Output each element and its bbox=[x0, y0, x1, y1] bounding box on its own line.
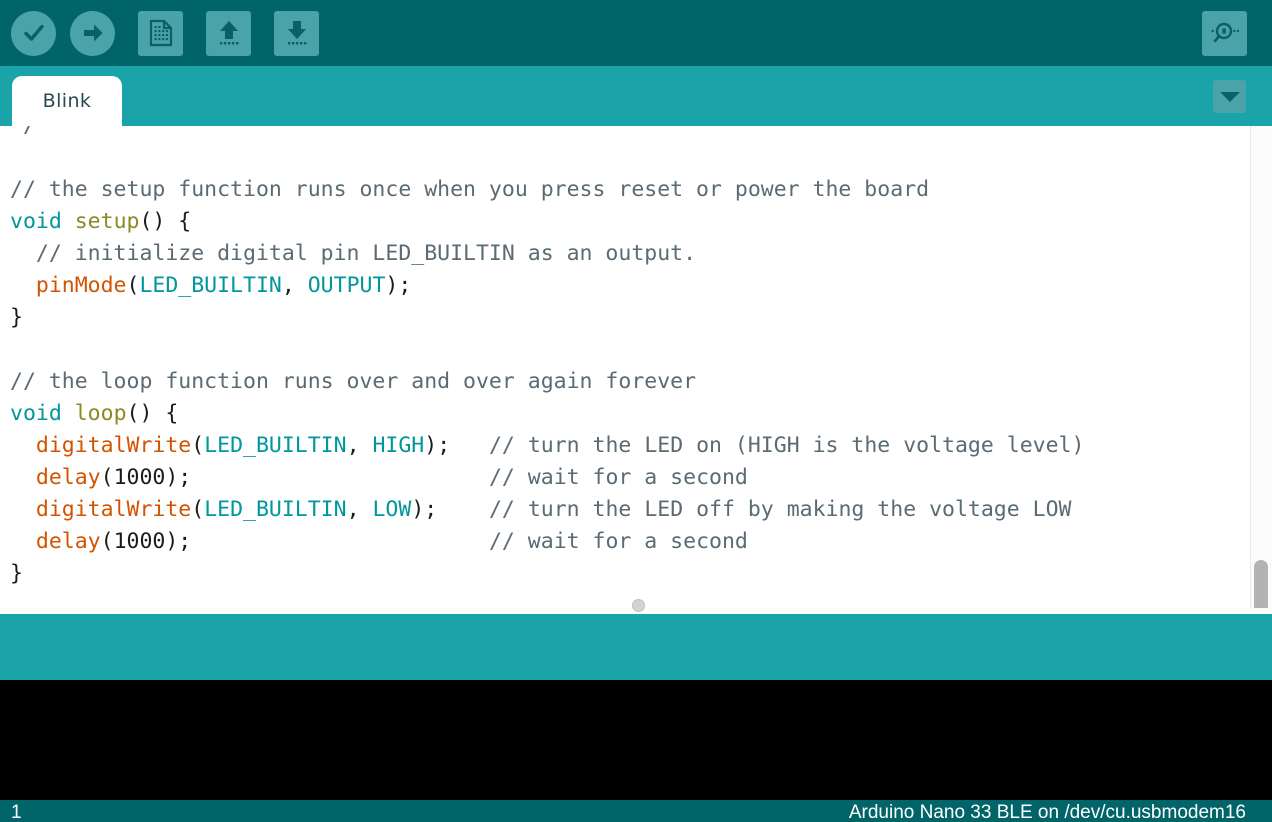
code-line: digitalWrite(LED_BUILTIN, LOW); // turn … bbox=[10, 494, 1084, 526]
code-line: delay(1000); // wait for a second bbox=[10, 462, 1084, 494]
code-token: 1000 bbox=[114, 465, 166, 490]
open-button[interactable] bbox=[206, 11, 251, 56]
code-token bbox=[10, 497, 36, 522]
code-token: loop bbox=[75, 401, 127, 426]
code-token: , bbox=[282, 273, 308, 298]
code-token: LOW bbox=[372, 497, 411, 522]
code-token: , bbox=[347, 497, 373, 522]
arrow-up-icon bbox=[216, 19, 242, 47]
new-sketch-button[interactable] bbox=[138, 11, 183, 56]
code-token: ); bbox=[424, 433, 489, 458]
arduino-ide-window: Blink */ // the setup function runs once… bbox=[0, 0, 1272, 822]
arrow-down-icon bbox=[284, 19, 310, 47]
code-token: } bbox=[10, 561, 23, 586]
code-token bbox=[10, 529, 36, 554]
code-token: ( bbox=[127, 273, 140, 298]
status-bar: 1 Arduino Nano 33 BLE on /dev/cu.usbmode… bbox=[0, 800, 1272, 822]
save-button[interactable] bbox=[274, 11, 319, 56]
code-token: delay bbox=[36, 465, 101, 490]
document-icon bbox=[148, 19, 174, 47]
code-line: } bbox=[10, 302, 1084, 334]
code-token: OUTPUT bbox=[308, 273, 386, 298]
code-token: ); bbox=[385, 273, 411, 298]
tab-blink[interactable]: Blink bbox=[12, 76, 122, 126]
splitter-drag-handle[interactable] bbox=[632, 599, 645, 612]
toolbar-left-group bbox=[0, 11, 319, 56]
code-token bbox=[10, 241, 36, 266]
code-token: void bbox=[10, 209, 62, 234]
console-header bbox=[0, 614, 1272, 680]
code-token: ( bbox=[101, 465, 114, 490]
tab-bar: Blink bbox=[0, 66, 1272, 126]
code-line: void loop() { bbox=[10, 398, 1084, 430]
code-token: 1000 bbox=[114, 529, 166, 554]
code-token bbox=[62, 209, 75, 234]
code-line: pinMode(LED_BUILTIN, OUTPUT); bbox=[10, 270, 1084, 302]
tab-label: Blink bbox=[43, 90, 92, 112]
magnifier-icon bbox=[1210, 20, 1240, 46]
code-token: , bbox=[347, 433, 373, 458]
code-line: void setup() { bbox=[10, 206, 1084, 238]
code-token: */ bbox=[10, 126, 36, 138]
code-line: } bbox=[10, 558, 1084, 590]
code-token: // the setup function runs once when you… bbox=[10, 177, 929, 202]
code-editor[interactable]: */ // the setup function runs once when … bbox=[0, 126, 1272, 614]
cursor-line-number: 1 bbox=[0, 800, 22, 822]
code-token: // wait for a second bbox=[489, 465, 748, 490]
code-token: ); bbox=[165, 529, 489, 554]
toolbar-right-group bbox=[1202, 11, 1272, 56]
code-token: digitalWrite bbox=[36, 433, 191, 458]
code-line: */ bbox=[10, 126, 1084, 142]
main-toolbar bbox=[0, 0, 1272, 66]
check-icon bbox=[21, 20, 47, 46]
code-token: // turn the LED off by making the voltag… bbox=[489, 497, 1071, 522]
code-token: LED_BUILTIN bbox=[204, 433, 346, 458]
code-line bbox=[10, 142, 1084, 174]
code-token: digitalWrite bbox=[36, 497, 191, 522]
code-token: ( bbox=[191, 433, 204, 458]
code-token bbox=[10, 433, 36, 458]
code-token bbox=[62, 401, 75, 426]
code-token: // turn the LED on (HIGH is the voltage … bbox=[489, 433, 1084, 458]
code-token bbox=[10, 273, 36, 298]
board-port-status: Arduino Nano 33 BLE on /dev/cu.usbmodem1… bbox=[849, 800, 1272, 822]
chevron-down-icon bbox=[1220, 92, 1240, 102]
console-output-text bbox=[0, 680, 1272, 692]
code-token: () { bbox=[127, 401, 179, 426]
upload-button[interactable] bbox=[70, 11, 115, 56]
code-token: } bbox=[10, 305, 23, 330]
code-token: ( bbox=[191, 497, 204, 522]
code-token: LED_BUILTIN bbox=[204, 497, 346, 522]
tab-menu-button[interactable] bbox=[1213, 80, 1246, 113]
verify-button[interactable] bbox=[11, 11, 56, 56]
editor-scrollbar-track[interactable] bbox=[1250, 126, 1272, 608]
code-line: // initialize digital pin LED_BUILTIN as… bbox=[10, 238, 1084, 270]
code-token: pinMode bbox=[36, 273, 127, 298]
code-token: HIGH bbox=[372, 433, 424, 458]
code-token: // initialize digital pin LED_BUILTIN as… bbox=[36, 241, 696, 266]
code-token: ( bbox=[101, 529, 114, 554]
code-line: delay(1000); // wait for a second bbox=[10, 526, 1084, 558]
serial-monitor-button[interactable] bbox=[1202, 11, 1247, 56]
code-line: // the setup function runs once when you… bbox=[10, 174, 1084, 206]
code-token: void bbox=[10, 401, 62, 426]
code-token: () { bbox=[139, 209, 191, 234]
arrow-right-icon bbox=[80, 20, 106, 46]
code-line: // the loop function runs over and over … bbox=[10, 366, 1084, 398]
code-content[interactable]: */ // the setup function runs once when … bbox=[0, 126, 1084, 590]
code-token: delay bbox=[36, 529, 101, 554]
code-token: ); bbox=[165, 465, 489, 490]
code-line: digitalWrite(LED_BUILTIN, HIGH); // turn… bbox=[10, 430, 1084, 462]
console-output-panel[interactable] bbox=[0, 680, 1272, 800]
code-token: ); bbox=[411, 497, 489, 522]
code-token: // wait for a second bbox=[489, 529, 748, 554]
code-token: setup bbox=[75, 209, 140, 234]
code-token bbox=[10, 465, 36, 490]
code-line bbox=[10, 334, 1084, 366]
code-token: // the loop function runs over and over … bbox=[10, 369, 696, 394]
code-token: LED_BUILTIN bbox=[139, 273, 281, 298]
